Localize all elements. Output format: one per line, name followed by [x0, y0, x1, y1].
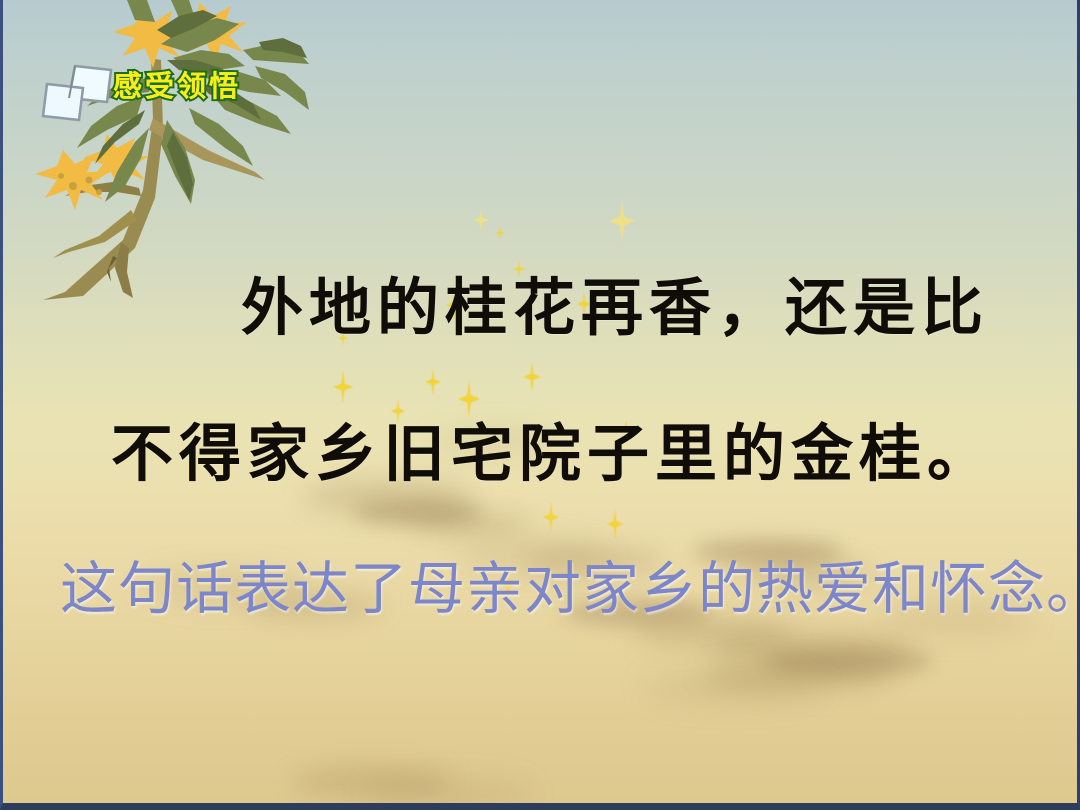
background-smudge [633, 618, 793, 648]
commentary-text: 这句话表达了母亲对家乡的热爱和怀念。 [60, 561, 1080, 618]
background-smudge [703, 660, 893, 692]
osmanthus-branch-illustration [3, 0, 333, 300]
presentation-slide: 感受领悟 感受领悟 外地的桂花再香，还是比 不得家乡旧宅院子里的金桂。 这句话表… [0, 0, 1080, 810]
background-smudge [643, 672, 823, 702]
quote-line-2: 不得家乡旧宅院子里的金桂。 [111, 423, 995, 485]
sparkle-icon [333, 370, 353, 404]
sparkle-icon [607, 508, 623, 540]
quote-line-1: 外地的桂花再香，还是比 [241, 277, 989, 339]
sparkle-icon [458, 380, 480, 418]
background-smudge [363, 780, 533, 808]
sparkle-icon [495, 226, 505, 240]
sparkle-icon [543, 502, 559, 532]
sparkle-icon [425, 368, 441, 396]
background-smudge [293, 766, 453, 796]
background-smudge [763, 648, 933, 676]
background-smudge [411, 512, 531, 536]
sparkle-icon [473, 208, 489, 232]
background-smudge [353, 500, 483, 526]
section-heading: 感受领悟 感受领悟 [113, 72, 241, 101]
sparkle-icon [523, 362, 541, 392]
section-heading-fill: 感受领悟 [113, 72, 241, 101]
sparkle-icon [609, 200, 635, 242]
background-smudge [713, 630, 913, 664]
